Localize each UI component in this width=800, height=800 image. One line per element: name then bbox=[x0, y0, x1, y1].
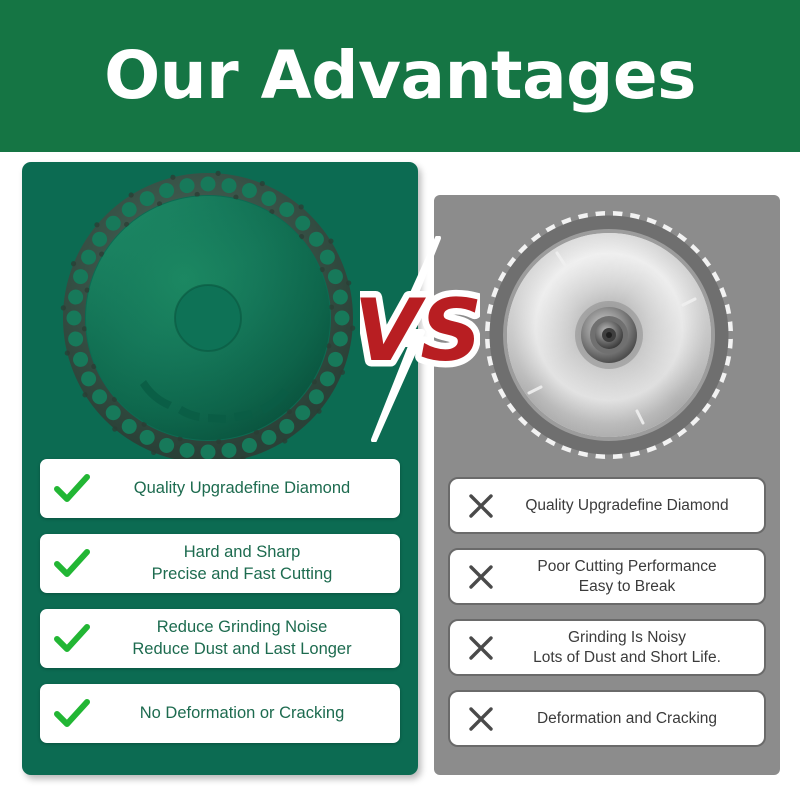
advantages-comparison-graphic: Our Advantages bbox=[0, 0, 800, 800]
page-title: Our Advantages bbox=[104, 43, 696, 109]
competitor-feature-list: Quality Upgradefine Diamond Poor Cutting… bbox=[448, 477, 766, 747]
list-item[interactable]: Deformation and Cracking bbox=[448, 690, 766, 747]
cross-icon bbox=[458, 491, 504, 521]
list-item-label: Reduce Grinding Noise Reduce Dust and La… bbox=[98, 617, 394, 660]
cross-icon bbox=[458, 633, 504, 663]
list-item[interactable]: Hard and Sharp Precise and Fast Cutting bbox=[40, 534, 400, 593]
diamond-cutting-disc-image bbox=[58, 170, 358, 460]
header-banner: Our Advantages bbox=[0, 0, 800, 152]
list-item-label: Grinding Is Noisy Lots of Dust and Short… bbox=[504, 628, 756, 668]
list-item[interactable]: Quality Upgradefine Diamond bbox=[448, 477, 766, 534]
list-item-label: Quality Upgradefine Diamond bbox=[98, 478, 394, 499]
list-item-label: Poor Cutting Performance Easy to Break bbox=[504, 557, 756, 597]
list-item[interactable]: Grinding Is Noisy Lots of Dust and Short… bbox=[448, 619, 766, 676]
vs-label: VS bbox=[360, 281, 480, 381]
our-product-panel: Quality Upgradefine Diamond Hard and Sha… bbox=[22, 162, 418, 775]
our-product-feature-list: Quality Upgradefine Diamond Hard and Sha… bbox=[40, 459, 400, 743]
cross-icon bbox=[458, 562, 504, 592]
list-item-label: Quality Upgradefine Diamond bbox=[504, 496, 756, 516]
check-icon bbox=[46, 699, 98, 729]
list-item-label: Deformation and Cracking bbox=[504, 709, 756, 729]
list-item[interactable]: Reduce Grinding Noise Reduce Dust and La… bbox=[40, 609, 400, 668]
list-item-label: Hard and Sharp Precise and Fast Cutting bbox=[98, 542, 394, 585]
vs-badge: VS VS bbox=[360, 236, 480, 442]
competitor-panel: Quality Upgradefine Diamond Poor Cutting… bbox=[434, 195, 780, 775]
list-item[interactable]: Poor Cutting Performance Easy to Break bbox=[448, 548, 766, 605]
check-icon bbox=[46, 624, 98, 654]
cross-icon bbox=[458, 704, 504, 734]
check-icon bbox=[46, 549, 98, 579]
check-icon bbox=[46, 474, 98, 504]
list-item[interactable]: Quality Upgradefine Diamond bbox=[40, 459, 400, 518]
circular-saw-blade-image bbox=[452, 205, 762, 470]
list-item-label: No Deformation or Cracking bbox=[98, 703, 394, 724]
list-item[interactable]: No Deformation or Cracking bbox=[40, 684, 400, 743]
